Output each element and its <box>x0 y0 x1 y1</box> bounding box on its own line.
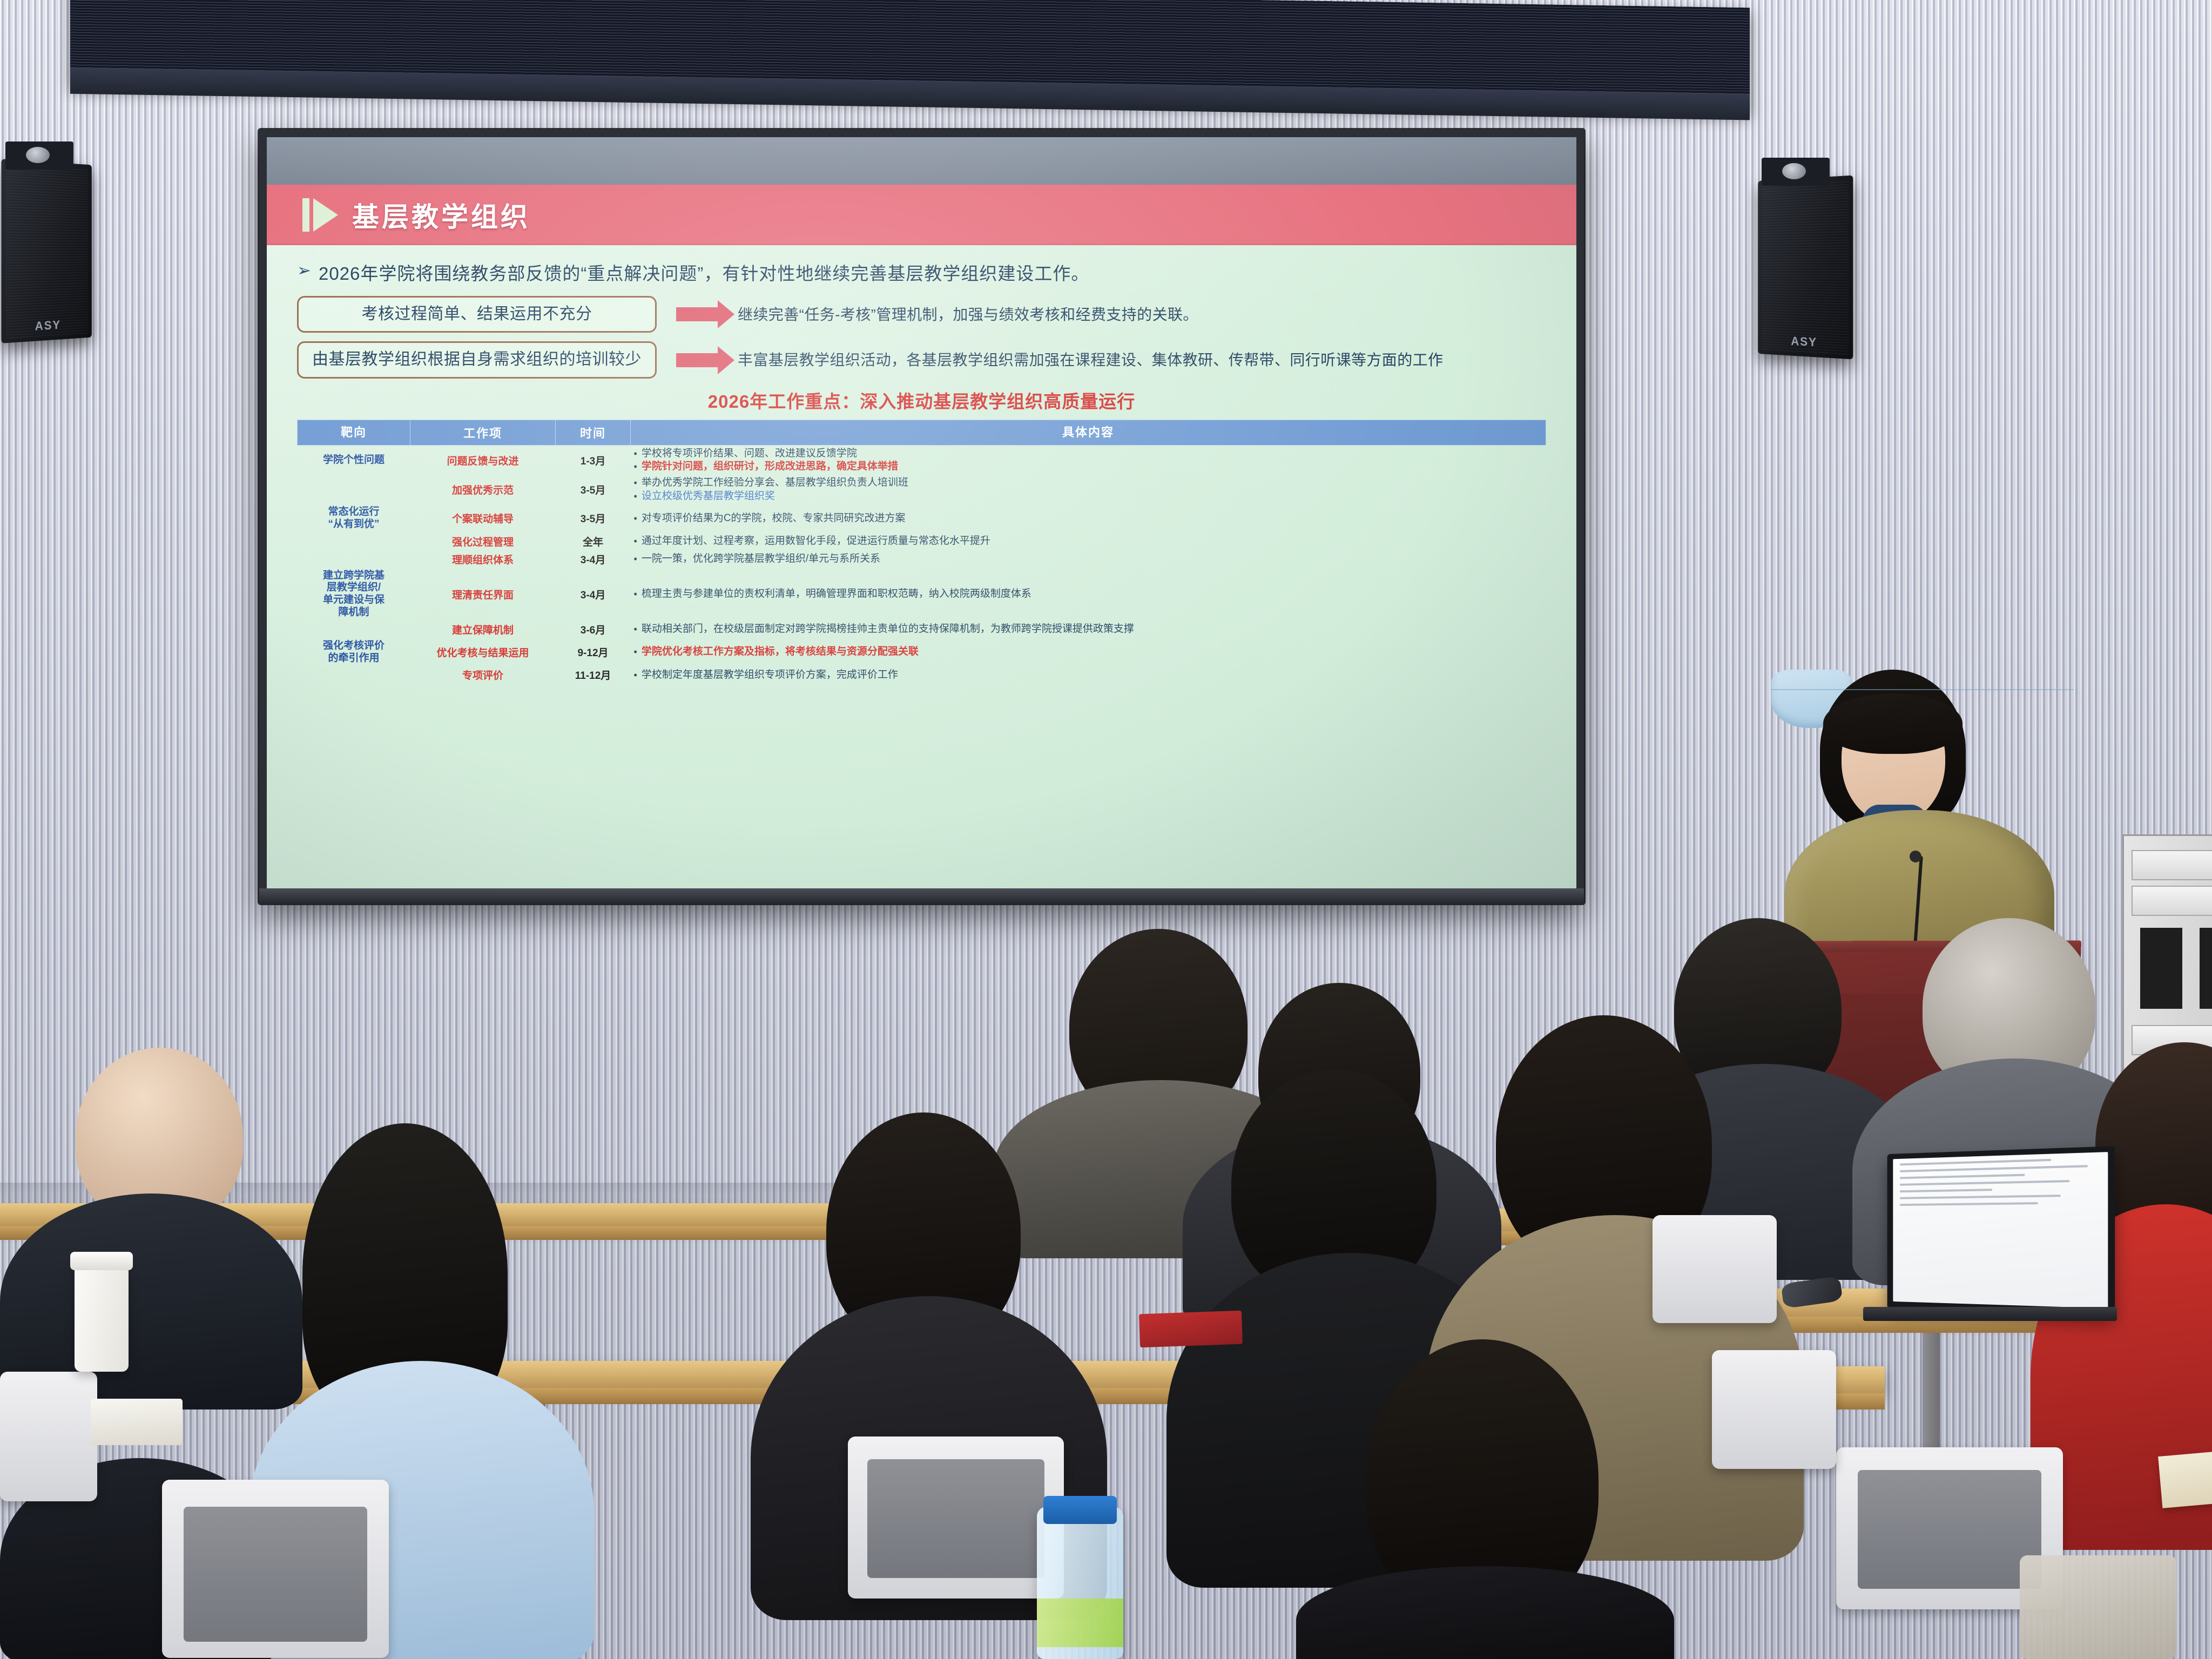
cell-work-item: 加强优秀示范 <box>410 475 556 504</box>
cell-time: 3-5月 <box>556 475 631 504</box>
detail-text: 学校制定年度基层教学组织专项评价方案，完成评价工作 <box>642 669 898 682</box>
cell-details: •对专项评价结果为C的学院，校院、专家共同研究改进方案 <box>631 504 1546 532</box>
slide-top-band <box>267 137 1576 185</box>
table-header-work-item: 工作项 <box>410 420 556 445</box>
cell-work-item: 专项评价 <box>410 666 556 684</box>
cell-work-item: 个案联动辅导 <box>410 504 556 532</box>
table-header-direction: 靶向 <box>298 420 410 445</box>
table-body: 学院个性问题问题反馈与改进1-3月•学校将专项评价结果、问题、改进建议反馈学院•… <box>298 445 1546 684</box>
table-row: 常态化运行“从有到优”个案联动辅导3-5月•对专项评价结果为C的学院，校院、专家… <box>298 504 1546 532</box>
cell-direction <box>298 475 410 504</box>
cell-time: 1-3月 <box>556 445 631 475</box>
cell-time: 9-12月 <box>556 638 631 666</box>
laptop[interactable] <box>1887 1146 2115 1317</box>
table-row: 学院个性问题问题反馈与改进1-3月•学校将专项评价结果、问题、改进建议反馈学院•… <box>298 445 1546 475</box>
bullet-dot-icon: • <box>634 490 637 503</box>
table-header-time: 时间 <box>556 420 631 445</box>
projection-screen-surface: 基层教学组织 ➢ 2026年学院将围绕教务部反馈的“重点解决问题”，有针对性地继… <box>267 137 1576 896</box>
cell-direction: 强化考核评价的牵引作用 <box>298 638 410 666</box>
detail-text: 设立校级优秀基层教学组织奖 <box>642 490 775 503</box>
presenter-fringe <box>1823 693 1963 754</box>
detail-bullet: •学校制定年度基层教学组织专项评价方案，完成评价工作 <box>634 669 1543 682</box>
bullet-dot-icon: • <box>634 669 637 682</box>
table-row: 建立保障机制3-6月•联动相关部门，在校级层面制定对跨学院揭榜挂帅主责单位的支持… <box>298 621 1546 638</box>
detail-text: 对专项评价结果为C的学院，校院、专家共同研究改进方案 <box>642 512 906 525</box>
desk-leg <box>1923 1333 1940 1457</box>
cell-direction <box>298 550 410 568</box>
cell-direction: 常态化运行“从有到优” <box>298 504 410 532</box>
microphone-head <box>1910 851 1921 862</box>
laptop-screen[interactable] <box>1893 1152 2108 1309</box>
cell-work-item: 理清责任界面 <box>410 568 556 621</box>
detail-text: 梳理主责与参建单位的责权利清单，明确管理界面和职权范畴，纳入校院两级制度体系 <box>642 588 1031 601</box>
detail-bullet: •一院一策，优化跨学院基层教学组织/单元与系所关系 <box>634 552 1543 565</box>
wall-speaker-right: ASY <box>1758 176 1853 360</box>
cell-time: 11-12月 <box>556 666 631 684</box>
coffee-cup <box>75 1258 129 1372</box>
detail-bullet: •梳理主责与参建单位的责权利清单，明确管理界面和职权范畴，纳入校院两级制度体系 <box>634 588 1543 601</box>
issue-problem-box: 由基层教学组织根据自身需求组织的培训较少 <box>297 341 657 378</box>
speaker-grille <box>1762 180 1849 354</box>
bullet-dot-icon: • <box>634 447 637 460</box>
detail-text: 学校将专项评价结果、问题、改进建议反馈学院 <box>642 447 857 460</box>
laptop-keyboard-base[interactable] <box>1863 1307 2117 1321</box>
cell-direction <box>298 532 410 550</box>
bullet-dot-icon: • <box>634 552 637 565</box>
bullet-dot-icon: • <box>634 460 637 473</box>
detail-bullet: •学校将专项评价结果、问题、改进建议反馈学院 <box>634 447 1543 460</box>
arrow-right-icon <box>657 307 738 321</box>
cell-time: 3-4月 <box>556 568 631 621</box>
cell-work-item: 问题反馈与改进 <box>410 445 556 475</box>
issue-problem-box: 考核过程简单、结果运用不充分 <box>297 296 657 333</box>
speaker-mount-knob-right <box>1782 163 1806 179</box>
table-row: 强化过程管理全年•通过年度计划、过程考察，运用数智化手段，促进运行质量与常态化水… <box>298 532 1546 550</box>
projection-screen: 基层教学组织 ➢ 2026年学院将围绕教务部反馈的“重点解决问题”，有针对性地继… <box>259 130 1584 903</box>
lead-bullet-text: 2026年学院将围绕教务部反馈的“重点解决问题”，有针对性地继续完善基层教学组织… <box>319 259 1089 285</box>
cell-work-item: 优化考核与结果运用 <box>410 638 556 666</box>
cell-work-item: 理顺组织体系 <box>410 550 556 568</box>
detail-bullet: •设立校级优秀基层教学组织奖 <box>634 490 1543 503</box>
bullet-dot-icon: • <box>634 588 637 601</box>
cell-direction: 学院个性问题 <box>298 445 410 475</box>
slide-title: 基层教学组织 <box>352 195 530 234</box>
presentation-slide: 基层教学组织 ➢ 2026年学院将围绕教务部反馈的“重点解决问题”，有针对性地继… <box>267 137 1576 896</box>
detail-text: 学院针对问题，组织研讨，形成改进思路，确定具体举措 <box>642 460 898 473</box>
issue-resolution-rows: 考核过程简单、结果运用不充分 继续完善“任务-考核”管理机制，加强与绩效考核和经… <box>297 296 1546 379</box>
bullet-dot-icon: • <box>634 645 637 658</box>
bullet-dot-icon: • <box>634 535 637 548</box>
cell-time: 3-5月 <box>556 504 631 532</box>
coffee-cup-lid <box>70 1252 133 1270</box>
bullet-dot-icon: • <box>634 476 637 489</box>
wall-speaker-left: ASY <box>1 159 91 343</box>
screen-bottom-frame <box>259 888 1584 905</box>
cell-direction: 建立跨学院基层教学组织/单元建设与保障机制 <box>298 568 410 621</box>
cell-details: •联动相关部门，在校级层面制定对跨学院揭榜挂帅主责单位的支持保障机制，为教师跨学… <box>631 621 1546 638</box>
detail-text: 学院优化考核工作方案及指标，将考核结果与资源分配强关联 <box>642 645 919 658</box>
cell-time: 全年 <box>556 532 631 550</box>
cell-details: •举办优秀学院工作经验分享会、基层教学组织负责人培训班•设立校级优秀基层教学组织… <box>631 475 1546 504</box>
table-row: 理顺组织体系3-4月•一院一策，优化跨学院基层教学组织/单元与系所关系 <box>298 550 1546 568</box>
cell-time: 3-6月 <box>556 621 631 638</box>
bullet-arrow-icon: ➢ <box>297 259 311 279</box>
detail-text: 通过年度计划、过程考察，运用数智化手段，促进运行质量与常态化水平提升 <box>642 535 990 548</box>
detail-bullet: •对专项评价结果为C的学院，校院、专家共同研究改进方案 <box>634 512 1543 525</box>
water-bottle-cap <box>1043 1496 1117 1524</box>
issue-row: 由基层教学组织根据自身需求组织的培训较少 丰富基层教学组织活动，各基层教学组织需… <box>297 341 1546 378</box>
cell-details: •学校将专项评价结果、问题、改进建议反馈学院•学院针对问题，组织研讨，形成改进思… <box>631 445 1546 475</box>
issue-resolution-text: 继续完善“任务-考核”管理机制，加强与绩效考核和经费支持的关联。 <box>738 305 1546 325</box>
cell-work-item: 建立保障机制 <box>410 621 556 638</box>
slide-title-bar: 基层教学组织 <box>267 185 1576 245</box>
water-bottle-label <box>1037 1599 1123 1647</box>
arrow-right-icon <box>657 353 738 367</box>
cell-details: •通过年度计划、过程考察，运用数智化手段，促进运行质量与常态化水平提升 <box>631 532 1546 550</box>
table-row: 强化考核评价的牵引作用优化考核与结果运用9-12月•学院优化考核工作方案及指标，… <box>298 638 1546 666</box>
lecture-hall-photo: ASY ASY 基层教学组织 ➢ 2026年学院将围绕教务部 <box>0 0 2212 1659</box>
cell-time: 3-4月 <box>556 550 631 568</box>
detail-bullet: •通过年度计划、过程考察，运用数智化手段，促进运行质量与常态化水平提升 <box>634 535 1543 548</box>
issue-row: 考核过程简单、结果运用不充分 继续完善“任务-考核”管理机制，加强与绩效考核和经… <box>297 296 1546 333</box>
cell-details: •梳理主责与参建单位的责权利清单，明确管理界面和职权范畴，纳入校院两级制度体系 <box>631 568 1546 621</box>
slide-body: ➢ 2026年学院将围绕教务部反馈的“重点解决问题”，有针对性地继续完善基层教学… <box>267 245 1576 896</box>
cell-work-item: 强化过程管理 <box>410 532 556 550</box>
detail-text: 举办优秀学院工作经验分享会、基层教学组织负责人培训班 <box>642 476 908 489</box>
bag <box>2020 1555 2176 1659</box>
bullet-dot-icon: • <box>634 623 637 636</box>
table-row: 加强优秀示范3-5月•举办优秀学院工作经验分享会、基层教学组织负责人培训班•设立… <box>298 475 1546 504</box>
work-plan-table: 靶向 工作项 时间 具体内容 学院个性问题问题反馈与改进1-3月•学校将专项评价… <box>297 420 1546 684</box>
red-book <box>1139 1311 1243 1348</box>
cell-direction <box>298 666 410 684</box>
flag-marker-icon <box>302 198 338 232</box>
cell-details: •一院一策，优化跨学院基层教学组织/单元与系所关系 <box>631 550 1546 568</box>
detail-bullet: •举办优秀学院工作经验分享会、基层教学组织负责人培训班 <box>634 476 1543 489</box>
table-row: 专项评价11-12月•学校制定年度基层教学组织专项评价方案，完成评价工作 <box>298 666 1546 684</box>
cell-direction <box>298 621 410 638</box>
detail-bullet: •学院针对问题，组织研讨，形成改进思路，确定具体举措 <box>634 460 1543 473</box>
table-row: 建立跨学院基层教学组织/单元建设与保障机制理清责任界面3-4月•梳理主责与参建单… <box>298 568 1546 621</box>
speaker-mount-knob-left <box>26 147 50 163</box>
issue-resolution-text: 丰富基层教学组织活动，各基层教学组织需加强在课程建设、集体教研、传帮带、同行听课… <box>738 350 1546 370</box>
bullet-dot-icon: • <box>634 512 637 525</box>
detail-text: 一院一策，优化跨学院基层教学组织/单元与系所关系 <box>642 552 880 565</box>
cell-details: •学院优化考核工作方案及指标，将考核结果与资源分配强关联 <box>631 638 1546 666</box>
table-header-details: 具体内容 <box>631 420 1546 445</box>
cell-details: •学校制定年度基层教学组织专项评价方案，完成评价工作 <box>631 666 1546 684</box>
table-header-row: 靶向 工作项 时间 具体内容 <box>298 420 1546 445</box>
detail-bullet: •学院优化考核工作方案及指标，将考核结果与资源分配强关联 <box>634 645 1543 658</box>
focus-heading: 2026年工作重点：深入推动基层教学组织高质量运行 <box>297 387 1546 413</box>
speaker-grille <box>5 164 87 339</box>
detail-bullet: •联动相关部门，在校级层面制定对跨学院揭榜挂帅主责单位的支持保障机制，为教师跨学… <box>634 623 1543 636</box>
paper-stack <box>2158 1449 2212 1508</box>
lead-bullet: ➢ 2026年学院将围绕教务部反馈的“重点解决问题”，有针对性地继续完善基层教学… <box>297 245 1546 285</box>
tissue-box <box>91 1399 183 1445</box>
detail-text: 联动相关部门，在校级层面制定对跨学院揭榜挂帅主责单位的支持保障机制，为教师跨学院… <box>642 623 1134 636</box>
